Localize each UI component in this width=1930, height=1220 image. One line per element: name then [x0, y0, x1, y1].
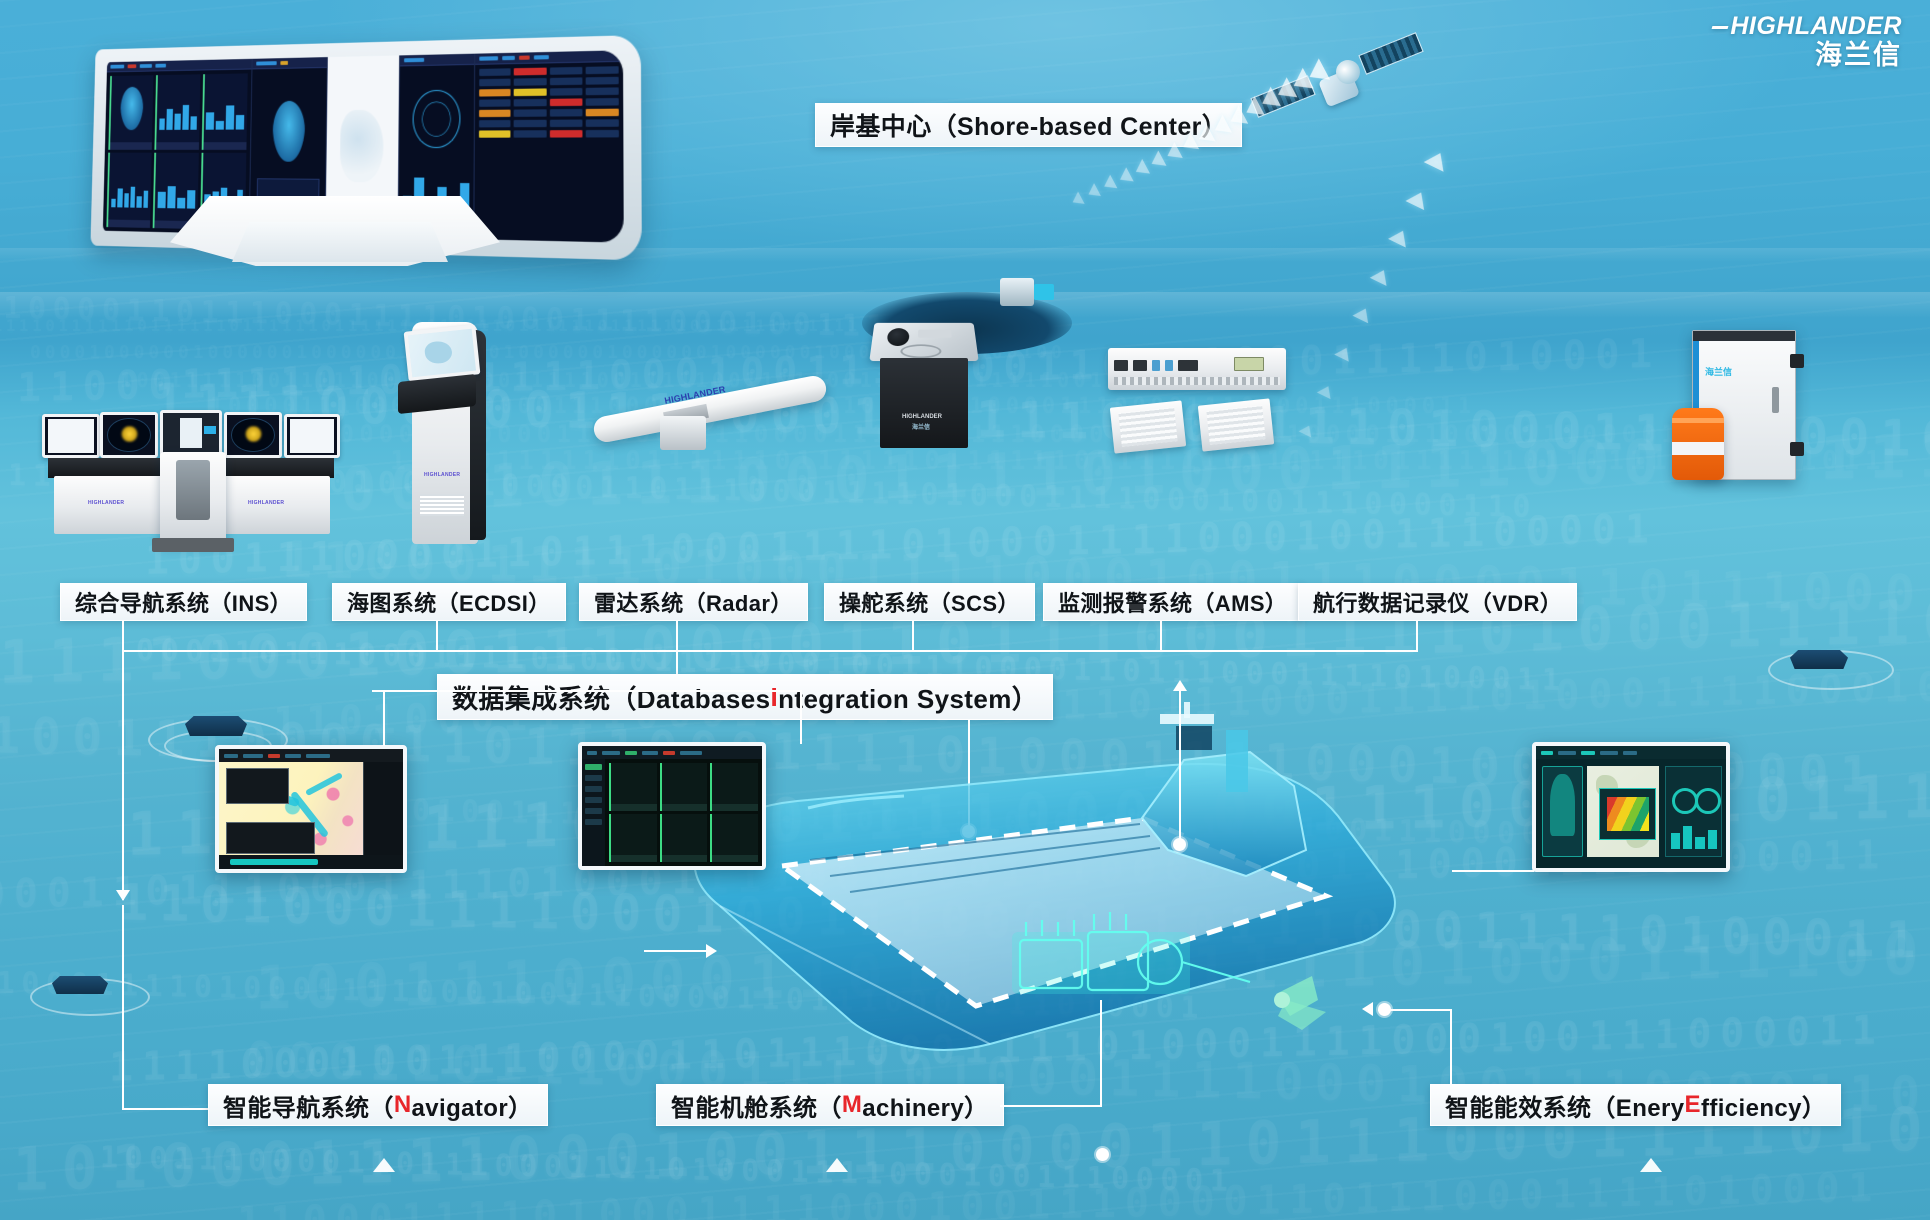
solar-panel-right [1358, 32, 1423, 75]
ins-monitor-radar [100, 412, 158, 458]
efficiency-gauge [1695, 788, 1721, 814]
navigator-highlight: N [394, 1091, 412, 1119]
efficiency-highlight: E [1685, 1091, 1701, 1119]
efficiency-body [1536, 759, 1726, 868]
grid-cell [106, 153, 151, 228]
table-row [479, 98, 618, 107]
ecdis-brand: HIGHLANDER [424, 472, 460, 478]
section-marker [373, 1158, 395, 1172]
node-dot-bridge [1173, 838, 1186, 851]
chip-label: 航行数据记录仪（VDR） [1313, 586, 1562, 618]
equipment-scs: HIGHLANDER 海兰信 [868, 318, 978, 448]
alarm-table [475, 62, 624, 243]
signal-chevron-icon [1352, 305, 1373, 324]
table-row [479, 66, 618, 76]
signal-chevron-icon [1148, 150, 1167, 171]
navigator-suffix: avigator） [412, 1088, 533, 1123]
machinery-cell[interactable] [660, 763, 708, 811]
machinery-topbar [582, 746, 762, 759]
chip-label: 雷达系统（Radar） [594, 586, 793, 618]
efficiency-topbar [1536, 746, 1726, 759]
signal-chevron-icon [1116, 167, 1133, 186]
signal-chevron-icon [1132, 159, 1150, 179]
shore-antenna-icon [1034, 284, 1054, 300]
section-marker [1640, 1158, 1662, 1172]
chip-ins: 综合导航系统（INS） [60, 583, 307, 621]
radar-display-icon [231, 418, 275, 452]
efficiency-heatmap [1607, 797, 1649, 831]
table-row [479, 119, 619, 127]
ams-lcd [1234, 357, 1264, 371]
ship-icon [120, 86, 144, 129]
equipment-ins: HIGHLANDER HIGHLANDER [40, 408, 340, 543]
table-row [479, 77, 618, 87]
grid-cell [108, 75, 153, 150]
navigator-info-panel [226, 768, 289, 804]
bar-chart-icon [111, 178, 148, 208]
shore-station-icon [1000, 278, 1034, 306]
signal-chevron-icon [1424, 148, 1451, 171]
signal-chevron-icon [1370, 266, 1392, 286]
ship-icon [272, 101, 305, 162]
equipment-vdr: 海兰信 [1650, 330, 1820, 490]
vdr-capsule [1672, 408, 1724, 480]
navigator-statusbar [219, 855, 403, 869]
radar-display-icon [107, 418, 151, 452]
logo-text-cn: 海兰信 [1712, 42, 1902, 69]
ins-monitor [42, 414, 100, 458]
vdr-brand: 海兰信 [1705, 365, 1732, 378]
chip-label: 岸基中心（Shore-based Center） [830, 107, 1227, 143]
ins-helm-column [176, 460, 210, 520]
signal-chevron-icon [1101, 175, 1118, 194]
chip-shore-center: 岸基中心（Shore-based Center） [815, 103, 1242, 147]
ins-brand: HIGHLANDER [88, 500, 124, 506]
signal-chevron-icon [1316, 383, 1334, 399]
machinery-cell[interactable] [609, 763, 657, 811]
machinery-grid [605, 759, 762, 866]
signal-chevron-icon [1069, 192, 1084, 209]
ecdis-vent [420, 494, 464, 516]
ams-io-module [1110, 400, 1186, 453]
efficiency-suffix: fficiency） [1701, 1088, 1826, 1123]
logo-text-en: HIGHLANDER [1712, 14, 1902, 39]
efficiency-gauge [1672, 788, 1698, 814]
machinery-cell[interactable] [710, 763, 758, 811]
ship-mast [1184, 702, 1190, 718]
connector-ins-long [122, 650, 124, 900]
connector-eff-chip-riser [1450, 1009, 1452, 1085]
pane-topbar [475, 50, 623, 65]
bar-chart-icon [159, 100, 197, 130]
chip-label: 操舵系统（SCS） [839, 586, 1020, 618]
machinery-highlight: M [842, 1091, 862, 1119]
scs-control-panel [869, 323, 978, 361]
ins-base [152, 538, 234, 552]
binary-row: 1100011110100011110001001110000110111000… [237, 1165, 1881, 1220]
small-boat-icon [52, 976, 108, 994]
navigator-prefix: 智能导航系统（ [223, 1088, 394, 1123]
chip-scs: 操舵系统（SCS） [824, 583, 1035, 621]
chip-efficiency: 智能能效系统（Enery Efficiency） [1430, 1084, 1841, 1126]
navigator-topbar [219, 749, 403, 762]
machinery-cell[interactable] [660, 814, 708, 862]
connector-ecdis-down [436, 621, 438, 651]
table-row [479, 109, 619, 117]
connector-mach-chip-right [1000, 1105, 1102, 1107]
binary-row: 1100011110100011110001001110000110111000… [17, 331, 1661, 411]
table-row [479, 130, 619, 138]
connector-nav-screen-up [383, 690, 385, 746]
sonar-icon [422, 101, 451, 136]
efficiency-gauges-panel [1665, 766, 1722, 857]
equipment-ecdis: HIGHLANDER [394, 322, 499, 544]
navigator-chart[interactable] [219, 762, 403, 869]
chip-label: 综合导航系统（INS） [75, 586, 292, 618]
node-dot-engine [1096, 1148, 1109, 1161]
machinery-body [582, 759, 762, 866]
vessel-xray-illustration [690, 700, 1410, 1080]
connector-vdr-down [1416, 621, 1418, 651]
bar-chart-icon [157, 178, 195, 209]
ship-bridge-top [1176, 726, 1212, 750]
navigator-sidepanel [363, 762, 403, 869]
ins-monitor-center [160, 410, 222, 458]
grid-cell [154, 74, 200, 150]
radar-pedestal [660, 416, 706, 450]
ship-funnel [1226, 730, 1248, 792]
pane-topbar [400, 54, 474, 67]
scs-wheel [900, 344, 942, 358]
scs-brand-cn: 海兰信 [912, 422, 930, 431]
machinery-cell[interactable] [710, 814, 758, 862]
table-row [479, 87, 618, 96]
ship-propeller [1274, 976, 1326, 1030]
scs-brand: HIGHLANDER [902, 414, 942, 420]
chip-radar: 雷达系统（Radar） [579, 583, 808, 621]
signal-chevron-icon [1406, 187, 1431, 209]
connector-scs-down [912, 621, 914, 651]
binary-row: 1001110000110111000111101000111100010011… [100, 1140, 1234, 1199]
arrow-bridge-up-icon [1173, 680, 1187, 691]
ams-main-unit [1108, 348, 1286, 390]
videowall-pane-5 [475, 50, 624, 242]
signal-chevron-icon [1299, 423, 1316, 438]
screen-machinery[interactable] [578, 742, 766, 870]
node-dot-prop [1378, 1003, 1391, 1016]
chip-navigator: 智能导航系统（Navigator） [208, 1084, 548, 1126]
screen-navigator[interactable] [215, 745, 407, 873]
small-boat-icon [185, 716, 247, 736]
efficiency-prefix: 智能能效系统（Enery [1445, 1088, 1685, 1123]
vdr-bracket [1790, 354, 1804, 368]
vessel-svg [690, 700, 1410, 1080]
connector-ins-down [122, 621, 124, 651]
ins-monitor-2 [284, 414, 340, 458]
connector-ins-to-nav [122, 905, 124, 1110]
equipment-radar: HIGHLANDER [592, 352, 832, 462]
machinery-suffix: achinery） [862, 1088, 988, 1123]
machinery-prefix: 智能机舱系统（ [671, 1088, 842, 1123]
ams-io-module [1198, 398, 1274, 451]
navigator-body [219, 762, 403, 869]
vdr-bracket [1790, 442, 1804, 456]
machinery-sidebar[interactable] [582, 759, 605, 866]
logo-dash-icon [1712, 26, 1729, 29]
machinery-cell[interactable] [609, 814, 657, 862]
signal-chevron-icon [1388, 227, 1412, 248]
small-boat-icon [1790, 650, 1848, 669]
chip-ecdis: 海图系统（ECDSI） [332, 583, 566, 621]
signal-chevron-icon [1085, 183, 1101, 201]
ecdis-display [404, 324, 481, 381]
grid-cell [201, 73, 248, 150]
chip-label: 监测报警系统（AMS） [1058, 586, 1287, 618]
binary-row: 1100001110000111000011100001110000111000… [300, 420, 1681, 448]
chip-vdr: 航行数据记录仪（VDR） [1298, 583, 1577, 621]
ins-monitor-radar-2 [224, 412, 282, 458]
chip-label: 海图系统（ECDSI） [347, 586, 551, 618]
chip-machinery: 智能机舱系统（Machinery） [656, 1084, 1004, 1126]
section-marker [826, 1158, 848, 1172]
connector-bus [122, 650, 1418, 652]
radar-scanner-bar [592, 374, 829, 445]
connector-ams-down [1160, 621, 1162, 651]
signal-chevron-icon [1334, 344, 1354, 361]
infographic-canvas: 1001110000110111000111101000111100010011… [0, 0, 1930, 1220]
arrow-ins-down-icon [116, 890, 130, 901]
screen-efficiency[interactable] [1532, 742, 1730, 872]
brand-logo: HIGHLANDER 海兰信 [1712, 14, 1902, 69]
sonar-icon [413, 89, 461, 148]
efficiency-ship-diagram [1542, 766, 1584, 857]
map-blob-icon [340, 110, 384, 183]
scs-cabinet [880, 358, 968, 448]
scs-display [918, 330, 952, 338]
equipment-ams [1100, 348, 1300, 458]
connector-radar-down [676, 621, 678, 651]
connector-eff-screen [1452, 870, 1534, 872]
connector-ins-to-nav-h [122, 1108, 210, 1110]
vdr-handle [1772, 387, 1779, 413]
navigator-route-table [226, 822, 314, 854]
chip-ams: 监测报警系统（AMS） [1043, 583, 1302, 621]
bar-chart-icon [206, 99, 245, 130]
control-room-desk [232, 222, 448, 262]
binary-row: 1001110000110111000111101000111100010011… [145, 506, 1658, 584]
efficiency-chart-window [1599, 788, 1656, 840]
ins-brand: HIGHLANDER [248, 500, 284, 506]
scs-knob [886, 328, 909, 346]
